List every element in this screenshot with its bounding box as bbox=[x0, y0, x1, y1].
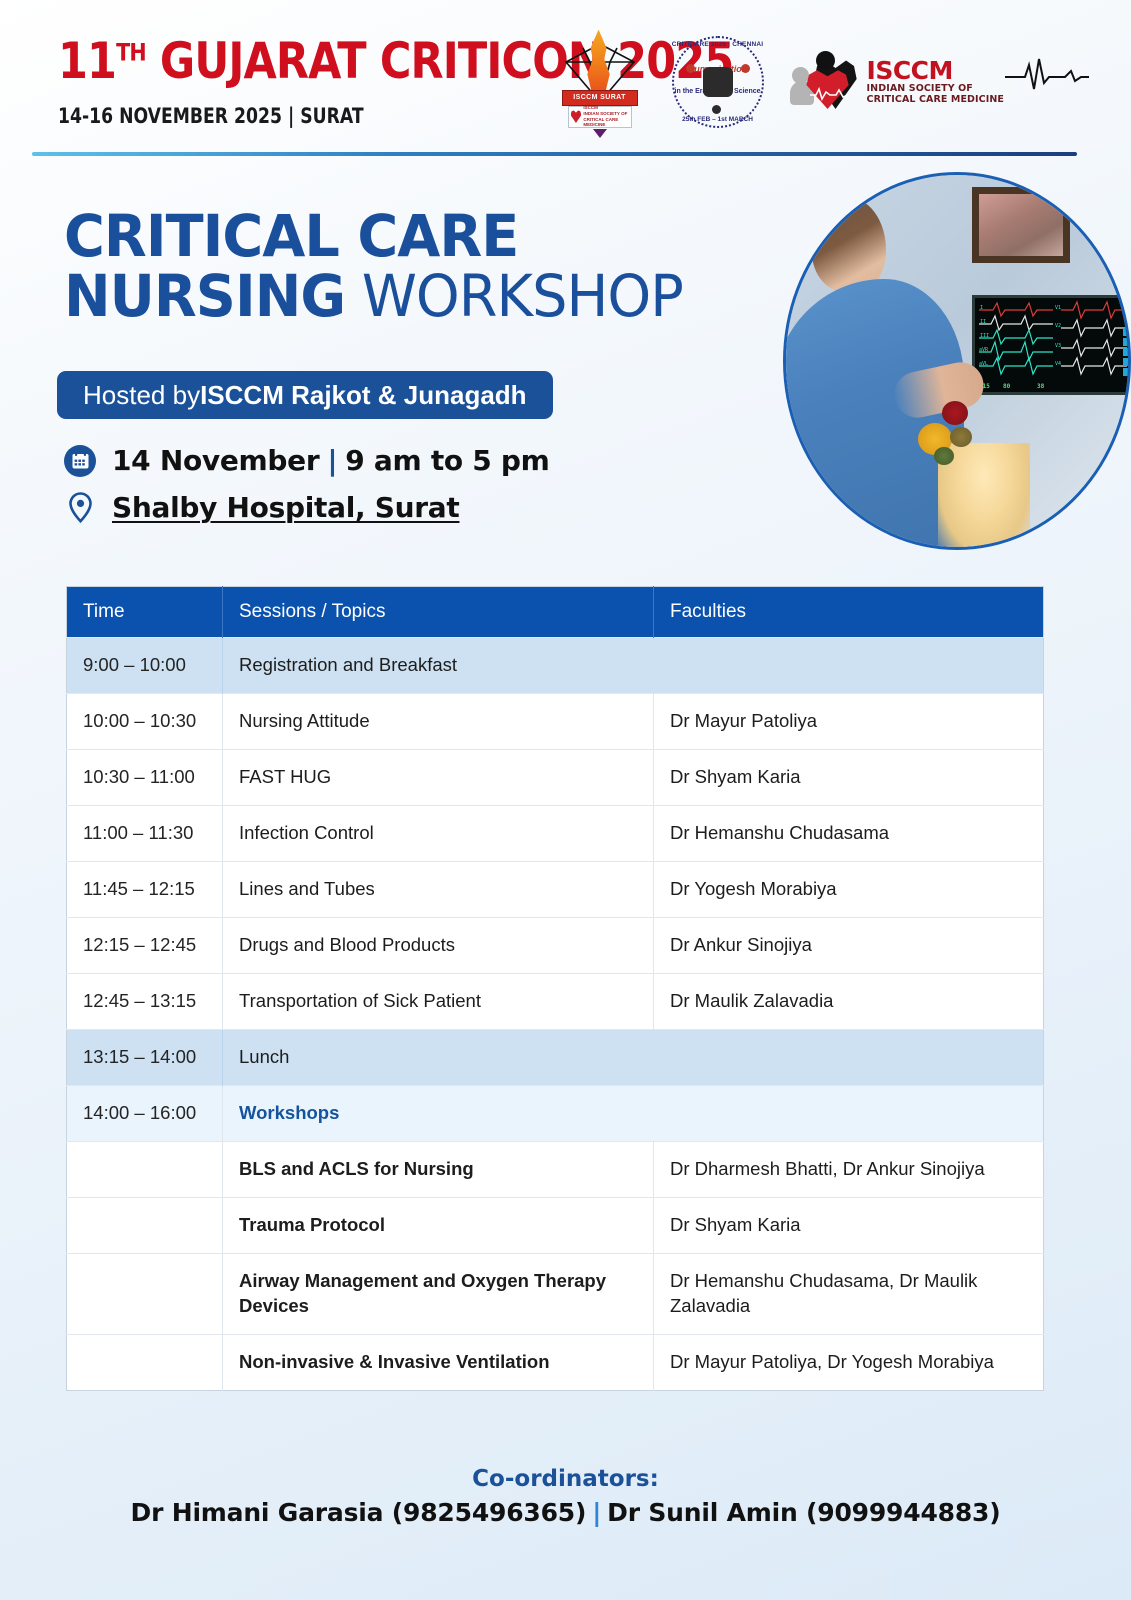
coordinators-footer: Co-ordinators: Dr Himani Garasia (982549… bbox=[0, 1466, 1131, 1527]
table-row: 11:45 – 12:15Lines and TubesDr Yogesh Mo… bbox=[67, 861, 1044, 917]
cell-time: 12:45 – 13:15 bbox=[67, 973, 223, 1029]
cell-session: Lunch bbox=[223, 1029, 1044, 1085]
hero-title-line2: NURSING WORKSHOP bbox=[64, 266, 774, 326]
cell-faculty: Dr Maulik Zalavadia bbox=[654, 973, 1044, 1029]
cell-time: 11:00 – 11:30 bbox=[67, 805, 223, 861]
cell-faculty: Dr Hemanshu Chudasama, Dr Maulik Zalavad… bbox=[654, 1253, 1044, 1334]
hosted-by-badge: Hosted by ISCCM Rajkot & Junagadh bbox=[57, 371, 553, 419]
svg-text:V2: V2 bbox=[1055, 323, 1061, 329]
table-row: 13:15 – 14:00Lunch bbox=[67, 1029, 1044, 1085]
svg-text:80: 80 bbox=[1003, 383, 1011, 390]
cell-session: Nursing Attitude bbox=[223, 693, 654, 749]
coordinators-heading: Co-ordinators: bbox=[0, 1466, 1131, 1492]
criticare-top-text: CRITICARE 2026 | CHENNAI bbox=[670, 41, 766, 48]
cell-session: Trauma Protocol bbox=[223, 1197, 654, 1253]
flower-bouquet bbox=[916, 401, 988, 473]
calendar-icon bbox=[64, 445, 96, 477]
cell-time bbox=[67, 1141, 223, 1197]
cell-session: Infection Control bbox=[223, 805, 654, 861]
coordinator-1: Dr Himani Garasia (9825496365) bbox=[131, 1498, 587, 1527]
cell-time bbox=[67, 1334, 223, 1390]
cell-faculty: Dr Mayur Patoliya, Dr Yogesh Morabiya bbox=[654, 1334, 1044, 1390]
people-dot-icon bbox=[686, 64, 695, 73]
wall-picture-frame bbox=[972, 187, 1070, 263]
svg-text:I: I bbox=[980, 305, 983, 311]
cell-time: 10:30 – 11:00 bbox=[67, 749, 223, 805]
event-datetime-text: 14 November|9 am to 5 pm bbox=[112, 444, 550, 477]
column-header-faculties: Faculties bbox=[654, 587, 1044, 638]
hosted-by-organizers: ISCCM Rajkot & Junagadh bbox=[200, 380, 526, 411]
coordinators-names: Dr Himani Garasia (9825496365)|Dr Sunil … bbox=[0, 1498, 1131, 1527]
logo-group: ISCCM SURAT ISCCM INDIAN SOCIETY OF CRIT… bbox=[556, 26, 1089, 138]
cell-session: Non-invasive & Invasive Ventilation bbox=[223, 1334, 654, 1390]
ecg-line-icon bbox=[1005, 57, 1089, 91]
cell-time: 10:00 – 10:30 bbox=[67, 693, 223, 749]
hero-title: CRITICAL CARE NURSING WORKSHOP bbox=[64, 206, 804, 327]
table-row: Trauma ProtocolDr Shyam Karia bbox=[67, 1197, 1044, 1253]
people-dot-icon bbox=[741, 64, 750, 73]
cell-faculty: Dr Shyam Karia bbox=[654, 749, 1044, 805]
cell-session: Registration and Breakfast bbox=[223, 638, 1044, 694]
table-row: 12:15 – 12:45Drugs and Blood ProductsDr … bbox=[67, 917, 1044, 973]
column-header-sessions: Sessions / Topics bbox=[223, 587, 654, 638]
ecg-traces-icon: IIIIII aVRaVL V1V2V3V4 1158038 bbox=[975, 298, 1131, 392]
isccm-wordmark: ISCCM INDIAN SOCIETY OF CRITICAL CARE ME… bbox=[867, 59, 1004, 105]
datetime-separator: | bbox=[319, 444, 345, 477]
cell-faculty: Dr Mayur Patoliya bbox=[654, 693, 1044, 749]
cell-time bbox=[67, 1197, 223, 1253]
heart-icon bbox=[571, 110, 582, 123]
framed-artwork bbox=[979, 194, 1063, 256]
coordinator-2: Dr Sunil Amin (9099944883) bbox=[607, 1498, 1000, 1527]
schedule-table: Time Sessions / Topics Faculties 9:00 – … bbox=[66, 586, 1044, 1391]
ecg-icon bbox=[810, 85, 848, 101]
svg-text:V4: V4 bbox=[1055, 361, 1061, 367]
cell-session: FAST HUG bbox=[223, 749, 654, 805]
page-header: 11TH GUJARAT CRITICON 2025 14-16 NOVEMBE… bbox=[0, 0, 1131, 160]
triangle-icon bbox=[593, 129, 607, 138]
cell-time: 9:00 – 10:00 bbox=[67, 638, 223, 694]
event-venue-text: Shalby Hospital, Surat bbox=[112, 491, 459, 524]
cube-icon bbox=[703, 67, 733, 97]
isccm-surat-logo: ISCCM SURAT ISCCM INDIAN SOCIETY OF CRIT… bbox=[556, 30, 644, 135]
conference-dates: 14-16 NOVEMBER 2025 | SURAT bbox=[58, 104, 364, 128]
cell-time: 14:00 – 16:00 bbox=[67, 1085, 223, 1141]
cell-session: Lines and Tubes bbox=[223, 861, 654, 917]
black-person-head-icon bbox=[816, 51, 835, 70]
cell-time bbox=[67, 1253, 223, 1334]
header-divider bbox=[32, 152, 1077, 156]
event-time: 9 am to 5 pm bbox=[345, 444, 549, 477]
table-header-row: Time Sessions / Topics Faculties bbox=[67, 587, 1044, 638]
event-venue-row: Shalby Hospital, Surat bbox=[64, 491, 764, 524]
svg-text:III: III bbox=[980, 333, 989, 339]
isccm-logo: ISCCM INDIAN SOCIETY OF CRITICAL CARE ME… bbox=[792, 51, 1089, 113]
table-row: BLS and ACLS for NursingDr Dharmesh Bhat… bbox=[67, 1141, 1044, 1197]
cell-session: Workshops bbox=[223, 1085, 1044, 1141]
cell-session: Airway Management and Oxygen Therapy Dev… bbox=[223, 1253, 654, 1334]
cell-time: 11:45 – 12:15 bbox=[67, 861, 223, 917]
table-row: Non-invasive & Invasive VentilationDr Ma… bbox=[67, 1334, 1044, 1390]
cell-session: Transportation of Sick Patient bbox=[223, 973, 654, 1029]
svg-text:II: II bbox=[980, 319, 986, 325]
cell-time: 13:15 – 14:00 bbox=[67, 1029, 223, 1085]
cell-faculty: Dr Yogesh Morabiya bbox=[654, 861, 1044, 917]
svg-text:V1: V1 bbox=[1055, 305, 1061, 311]
event-meta: 14 November|9 am to 5 pm Shalby Hospital… bbox=[64, 444, 764, 538]
table-row: Airway Management and Oxygen Therapy Dev… bbox=[67, 1253, 1044, 1334]
cell-faculty: Dr Shyam Karia bbox=[654, 1197, 1044, 1253]
svg-text:aVL: aVL bbox=[979, 361, 988, 367]
svg-text:38: 38 bbox=[1037, 383, 1045, 390]
isccm-surat-band: ISCCM SURAT bbox=[562, 90, 638, 106]
table-row: 11:00 – 11:30Infection ControlDr Hemansh… bbox=[67, 805, 1044, 861]
hero-title-line1: CRITICAL CARE bbox=[64, 206, 774, 266]
isccm-surat-card-text: ISCCM INDIAN SOCIETY OF CRITICAL CARE ME… bbox=[583, 105, 628, 128]
cell-faculty: Dr Dharmesh Bhatti, Dr Ankur Sinojiya bbox=[654, 1141, 1044, 1197]
nurse-monitoring-ecg-photo: IIIIII aVRaVL V1V2V3V4 1158038 bbox=[783, 172, 1131, 550]
criticare-2026-logo: CRITICARE 2026 | CHENNAI Humanisation in… bbox=[670, 34, 766, 130]
cell-session: Drugs and Blood Products bbox=[223, 917, 654, 973]
location-pin-icon bbox=[64, 492, 96, 524]
table-row: 12:45 – 13:15Transportation of Sick Pati… bbox=[67, 973, 1044, 1029]
svg-text:aVR: aVR bbox=[979, 347, 989, 353]
cell-session: BLS and ACLS for Nursing bbox=[223, 1141, 654, 1197]
criticare-bottom-text: 25th FEB – 1st MARCH bbox=[670, 116, 766, 123]
svg-text:V3: V3 bbox=[1055, 343, 1061, 349]
schedule-table-body: 9:00 – 10:00Registration and Breakfast10… bbox=[67, 638, 1044, 1391]
ecg-monitor: IIIIII aVRaVL V1V2V3V4 1158038 bbox=[972, 295, 1131, 395]
cell-faculty: Dr Hemanshu Chudasama bbox=[654, 805, 1044, 861]
isccm-heart-people-icon bbox=[792, 51, 860, 113]
people-dot-icon bbox=[712, 105, 721, 114]
isccm-surat-card: ISCCM INDIAN SOCIETY OF CRITICAL CARE ME… bbox=[568, 106, 632, 128]
hosted-by-prefix: Hosted by bbox=[83, 380, 200, 411]
cell-time: 12:15 – 12:45 bbox=[67, 917, 223, 973]
column-header-time: Time bbox=[67, 587, 223, 638]
event-datetime-row: 14 November|9 am to 5 pm bbox=[64, 444, 764, 477]
coordinators-separator: | bbox=[586, 1498, 607, 1527]
table-row: 14:00 – 16:00Workshops bbox=[67, 1085, 1044, 1141]
table-row: 9:00 – 10:00Registration and Breakfast bbox=[67, 638, 1044, 694]
cell-faculty: Dr Ankur Sinojiya bbox=[654, 917, 1044, 973]
table-row: 10:30 – 11:00FAST HUGDr Shyam Karia bbox=[67, 749, 1044, 805]
table-row: 10:00 – 10:30Nursing AttitudeDr Mayur Pa… bbox=[67, 693, 1044, 749]
event-date: 14 November bbox=[112, 444, 319, 477]
